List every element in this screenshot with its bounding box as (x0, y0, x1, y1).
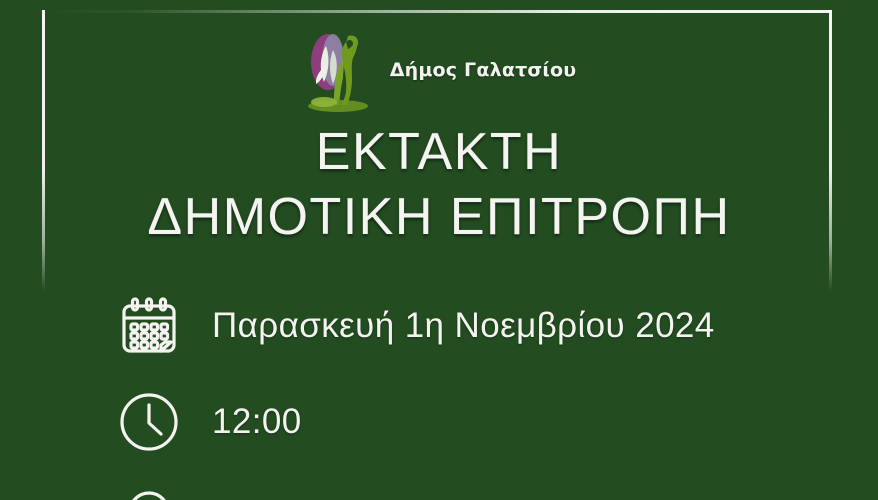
municipality-logo (302, 26, 376, 114)
event-date-label: Παρασκευή 1η Νοεμβρίου 2024 (212, 306, 715, 346)
event-detail-location (112, 470, 838, 500)
event-details-list: Παρασκευή 1η Νοεμβρίου 2024 12:00 (112, 278, 838, 500)
event-detail-time: 12:00 (112, 374, 838, 470)
event-time-label: 12:00 (212, 402, 302, 442)
event-detail-date: Παρασκευή 1η Νοεμβρίου 2024 (112, 278, 838, 374)
galatsi-figure-logo (302, 26, 376, 114)
headline-line-2: ΔΗΜΟΤΙΚΗ ΕΠΙΤΡΟΠΗ (0, 191, 878, 244)
page-title: ΕΚΤΑΚΤΗ ΔΗΜΟΤΙΚΗ ΕΠΙΤΡΟΠΗ (0, 126, 878, 244)
announcement-poster: Δήμος Γαλατσίου ΕΚΤΑΚΤΗ ΔΗΜΟΤΙΚΗ ΕΠΙΤΡΟΠ… (0, 0, 878, 500)
calendar-icon (112, 289, 186, 363)
brand-name: Δήμος Γαλατσίου (390, 59, 577, 81)
brand-header: Δήμος Γαλατσίου (0, 26, 878, 114)
headline-line-1: ΕΚΤΑΚΤΗ (0, 126, 878, 179)
frame-top-line (42, 10, 832, 13)
clock-icon (112, 385, 186, 459)
location-pin-icon (112, 481, 186, 500)
